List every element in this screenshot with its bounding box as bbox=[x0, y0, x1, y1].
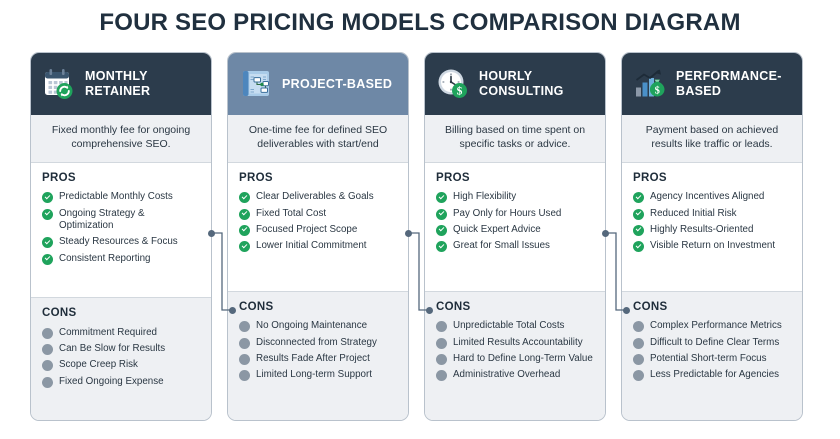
card-hourly-consulting[interactable]: $ HOURLY CONSULTING Billing based on tim… bbox=[424, 52, 606, 421]
cons-section: CONS Commitment Required Can Be Slow for… bbox=[31, 297, 211, 420]
dot-circle-icon bbox=[239, 370, 250, 381]
list-item: High Flexibility bbox=[436, 189, 595, 205]
dot-circle-icon bbox=[436, 338, 447, 349]
list-item-label: High Flexibility bbox=[453, 190, 516, 203]
list-item: No Ongoing Maintenance bbox=[239, 318, 398, 334]
check-circle-icon bbox=[42, 237, 53, 248]
cons-label: CONS bbox=[633, 301, 792, 313]
card-performance-based[interactable]: $ PERFORMANCE-BASED Payment based on ach… bbox=[621, 52, 803, 421]
list-item-label: Potential Short-term Focus bbox=[650, 352, 767, 365]
dot-circle-icon bbox=[42, 328, 53, 339]
cons-list: Complex Performance Metrics Difficult to… bbox=[633, 318, 792, 383]
card-header: $ PERFORMANCE-BASED bbox=[622, 53, 802, 115]
check-circle-icon bbox=[42, 254, 53, 265]
blueprint-flowchart-icon bbox=[238, 66, 274, 102]
clock-dollar-icon: $ bbox=[435, 66, 471, 102]
list-item: Difficult to Define Clear Terms bbox=[633, 334, 792, 350]
list-item-label: Reduced Initial Risk bbox=[650, 207, 737, 220]
list-item: Fixed Ongoing Expense bbox=[42, 373, 201, 389]
list-item: Commitment Required bbox=[42, 324, 201, 340]
cons-list: No Ongoing Maintenance Disconnected from… bbox=[239, 318, 398, 383]
list-item: Unpredictable Total Costs bbox=[436, 318, 595, 334]
list-item: Pay Only for Hours Used bbox=[436, 205, 595, 221]
connector-dot-source-2 bbox=[405, 230, 412, 237]
check-circle-icon bbox=[436, 225, 447, 236]
card-title: PERFORMANCE-BASED bbox=[676, 69, 793, 99]
pros-section: PROS Agency Incentives Aligned Reduced I… bbox=[622, 163, 802, 291]
list-item-label: Focused Project Scope bbox=[256, 223, 357, 236]
list-item: Disconnected from Strategy bbox=[239, 334, 398, 350]
list-item: Scope Creep Risk bbox=[42, 357, 201, 373]
list-item-label: Limited Results Accountability bbox=[453, 336, 583, 349]
list-item-label: Hard to Define Long-Term Value bbox=[453, 352, 593, 365]
dot-circle-icon bbox=[42, 360, 53, 371]
dot-circle-icon bbox=[633, 321, 644, 332]
list-item-label: Steady Resources & Focus bbox=[59, 235, 178, 248]
list-item: Great for Small Issues bbox=[436, 238, 595, 254]
list-item-label: Ongoing Strategy & Optimization bbox=[59, 207, 201, 233]
list-item-label: Agency Incentives Aligned bbox=[650, 190, 764, 203]
card-title: PROJECT-BASED bbox=[282, 77, 392, 92]
list-item: Visible Return on Investment bbox=[633, 238, 792, 254]
dot-circle-icon bbox=[42, 344, 53, 355]
list-item-label: Can Be Slow for Results bbox=[59, 342, 165, 355]
pros-label: PROS bbox=[42, 172, 201, 184]
check-circle-icon bbox=[239, 225, 250, 236]
list-item-label: Lower Initial Commitment bbox=[256, 239, 367, 252]
card-monthly-retainer[interactable]: MONTHLY RETAINER Fixed monthly fee for o… bbox=[30, 52, 212, 421]
pros-list: Agency Incentives Aligned Reduced Initia… bbox=[633, 189, 792, 254]
list-item-label: Visible Return on Investment bbox=[650, 239, 775, 252]
list-item: Fixed Total Cost bbox=[239, 205, 398, 221]
list-item-label: Highly Results-Oriented bbox=[650, 223, 753, 236]
list-item: Limited Results Accountability bbox=[436, 334, 595, 350]
card-header: $ HOURLY CONSULTING bbox=[425, 53, 605, 115]
list-item: Lower Initial Commitment bbox=[239, 238, 398, 254]
list-item: Agency Incentives Aligned bbox=[633, 189, 792, 205]
list-item-label: Scope Creep Risk bbox=[59, 358, 138, 371]
pros-section: PROS High Flexibility Pay Only for Hours… bbox=[425, 163, 605, 291]
list-item-label: Complex Performance Metrics bbox=[650, 319, 782, 332]
list-item-label: Less Predictable for Agencies bbox=[650, 368, 779, 381]
list-item-label: Predictable Monthly Costs bbox=[59, 190, 173, 203]
check-circle-icon bbox=[436, 241, 447, 252]
list-item-label: Disconnected from Strategy bbox=[256, 336, 377, 349]
list-item-label: Limited Long-term Support bbox=[256, 368, 372, 381]
cons-list: Commitment Required Can Be Slow for Resu… bbox=[42, 324, 201, 389]
bar-chart-money-bag-icon: $ bbox=[632, 66, 668, 102]
diagram-canvas: FOUR SEO PRICING MODELS COMPARISON DIAGR… bbox=[0, 0, 840, 439]
list-item: Potential Short-term Focus bbox=[633, 351, 792, 367]
pros-label: PROS bbox=[633, 172, 792, 184]
dot-circle-icon bbox=[436, 354, 447, 365]
list-item: Complex Performance Metrics bbox=[633, 318, 792, 334]
card-project-based[interactable]: PROJECT-BASED One-time fee for defined S… bbox=[227, 52, 409, 421]
list-item-label: Administrative Overhead bbox=[453, 368, 560, 381]
cons-section: CONS Complex Performance Metrics Difficu… bbox=[622, 291, 802, 420]
list-item: Quick Expert Advice bbox=[436, 221, 595, 237]
page-title: FOUR SEO PRICING MODELS COMPARISON DIAGR… bbox=[0, 9, 840, 37]
dot-circle-icon bbox=[239, 354, 250, 365]
list-item-label: Difficult to Define Clear Terms bbox=[650, 336, 779, 349]
list-item-label: Pay Only for Hours Used bbox=[453, 207, 561, 220]
list-item-label: Results Fade After Project bbox=[256, 352, 370, 365]
connector-dot-source-1 bbox=[208, 230, 215, 237]
card-header: PROJECT-BASED bbox=[228, 53, 408, 115]
svg-text:$: $ bbox=[655, 85, 660, 96]
cons-label: CONS bbox=[436, 301, 595, 313]
pros-list: High Flexibility Pay Only for Hours Used… bbox=[436, 189, 595, 254]
check-circle-icon bbox=[436, 209, 447, 220]
check-circle-icon bbox=[239, 209, 250, 220]
list-item: Highly Results-Oriented bbox=[633, 221, 792, 237]
cons-label: CONS bbox=[42, 307, 201, 319]
dot-circle-icon bbox=[42, 377, 53, 388]
connector-dot-source-3 bbox=[602, 230, 609, 237]
list-item-label: No Ongoing Maintenance bbox=[256, 319, 367, 332]
dot-circle-icon bbox=[239, 321, 250, 332]
list-item: Steady Resources & Focus bbox=[42, 234, 201, 250]
list-item: Focused Project Scope bbox=[239, 221, 398, 237]
check-circle-icon bbox=[633, 225, 644, 236]
dot-circle-icon bbox=[239, 338, 250, 349]
list-item-label: Fixed Total Cost bbox=[256, 207, 326, 220]
dot-circle-icon bbox=[633, 370, 644, 381]
cons-list: Unpredictable Total Costs Limited Result… bbox=[436, 318, 595, 383]
list-item: Consistent Reporting bbox=[42, 250, 201, 266]
card-header: MONTHLY RETAINER bbox=[31, 53, 211, 115]
card-title: MONTHLY RETAINER bbox=[85, 69, 202, 99]
pros-list: Predictable Monthly Costs Ongoing Strate… bbox=[42, 189, 201, 267]
list-item: Clear Deliverables & Goals bbox=[239, 189, 398, 205]
check-circle-icon bbox=[633, 209, 644, 220]
pricing-model-cards: MONTHLY RETAINER Fixed monthly fee for o… bbox=[30, 52, 810, 421]
pros-label: PROS bbox=[239, 172, 398, 184]
list-item-label: Quick Expert Advice bbox=[453, 223, 541, 236]
list-item: Hard to Define Long-Term Value bbox=[436, 351, 595, 367]
check-circle-icon bbox=[633, 192, 644, 203]
connector-dot-target-1 bbox=[229, 307, 236, 314]
list-item: Can Be Slow for Results bbox=[42, 340, 201, 356]
pros-section: PROS Predictable Monthly Costs Ongoing S… bbox=[31, 163, 211, 297]
cons-section: CONS No Ongoing Maintenance Disconnected… bbox=[228, 291, 408, 420]
list-item-label: Unpredictable Total Costs bbox=[453, 319, 564, 332]
card-description: Payment based on achieved results like t… bbox=[622, 115, 802, 163]
calendar-refresh-icon bbox=[41, 66, 77, 102]
list-item-label: Clear Deliverables & Goals bbox=[256, 190, 374, 203]
check-circle-icon bbox=[633, 241, 644, 252]
list-item-label: Consistent Reporting bbox=[59, 252, 151, 265]
svg-text:$: $ bbox=[457, 85, 463, 98]
list-item: Ongoing Strategy & Optimization bbox=[42, 205, 201, 234]
list-item: Results Fade After Project bbox=[239, 351, 398, 367]
check-circle-icon bbox=[239, 192, 250, 203]
check-circle-icon bbox=[42, 192, 53, 203]
list-item-label: Commitment Required bbox=[59, 326, 157, 339]
check-circle-icon bbox=[436, 192, 447, 203]
pros-list: Clear Deliverables & Goals Fixed Total C… bbox=[239, 189, 398, 254]
list-item: Administrative Overhead bbox=[436, 367, 595, 383]
connector-dot-target-2 bbox=[426, 307, 433, 314]
check-circle-icon bbox=[42, 209, 53, 220]
dot-circle-icon bbox=[436, 370, 447, 381]
cons-label: CONS bbox=[239, 301, 398, 313]
list-item: Reduced Initial Risk bbox=[633, 205, 792, 221]
pros-label: PROS bbox=[436, 172, 595, 184]
list-item-label: Great for Small Issues bbox=[453, 239, 550, 252]
list-item: Less Predictable for Agencies bbox=[633, 367, 792, 383]
dot-circle-icon bbox=[633, 338, 644, 349]
check-circle-icon bbox=[239, 241, 250, 252]
list-item-label: Fixed Ongoing Expense bbox=[59, 375, 164, 388]
cons-section: CONS Unpredictable Total Costs Limited R… bbox=[425, 291, 605, 420]
card-description: Fixed monthly fee for ongoing comprehens… bbox=[31, 115, 211, 163]
card-title: HOURLY CONSULTING bbox=[479, 69, 596, 99]
dot-circle-icon bbox=[436, 321, 447, 332]
list-item: Limited Long-term Support bbox=[239, 367, 398, 383]
card-description: One-time fee for defined SEO deliverable… bbox=[228, 115, 408, 163]
pros-section: PROS Clear Deliverables & Goals Fixed To… bbox=[228, 163, 408, 291]
connector-dot-target-3 bbox=[623, 307, 630, 314]
card-description: Billing based on time spent on specific … bbox=[425, 115, 605, 163]
list-item: Predictable Monthly Costs bbox=[42, 189, 201, 205]
dot-circle-icon bbox=[633, 354, 644, 365]
